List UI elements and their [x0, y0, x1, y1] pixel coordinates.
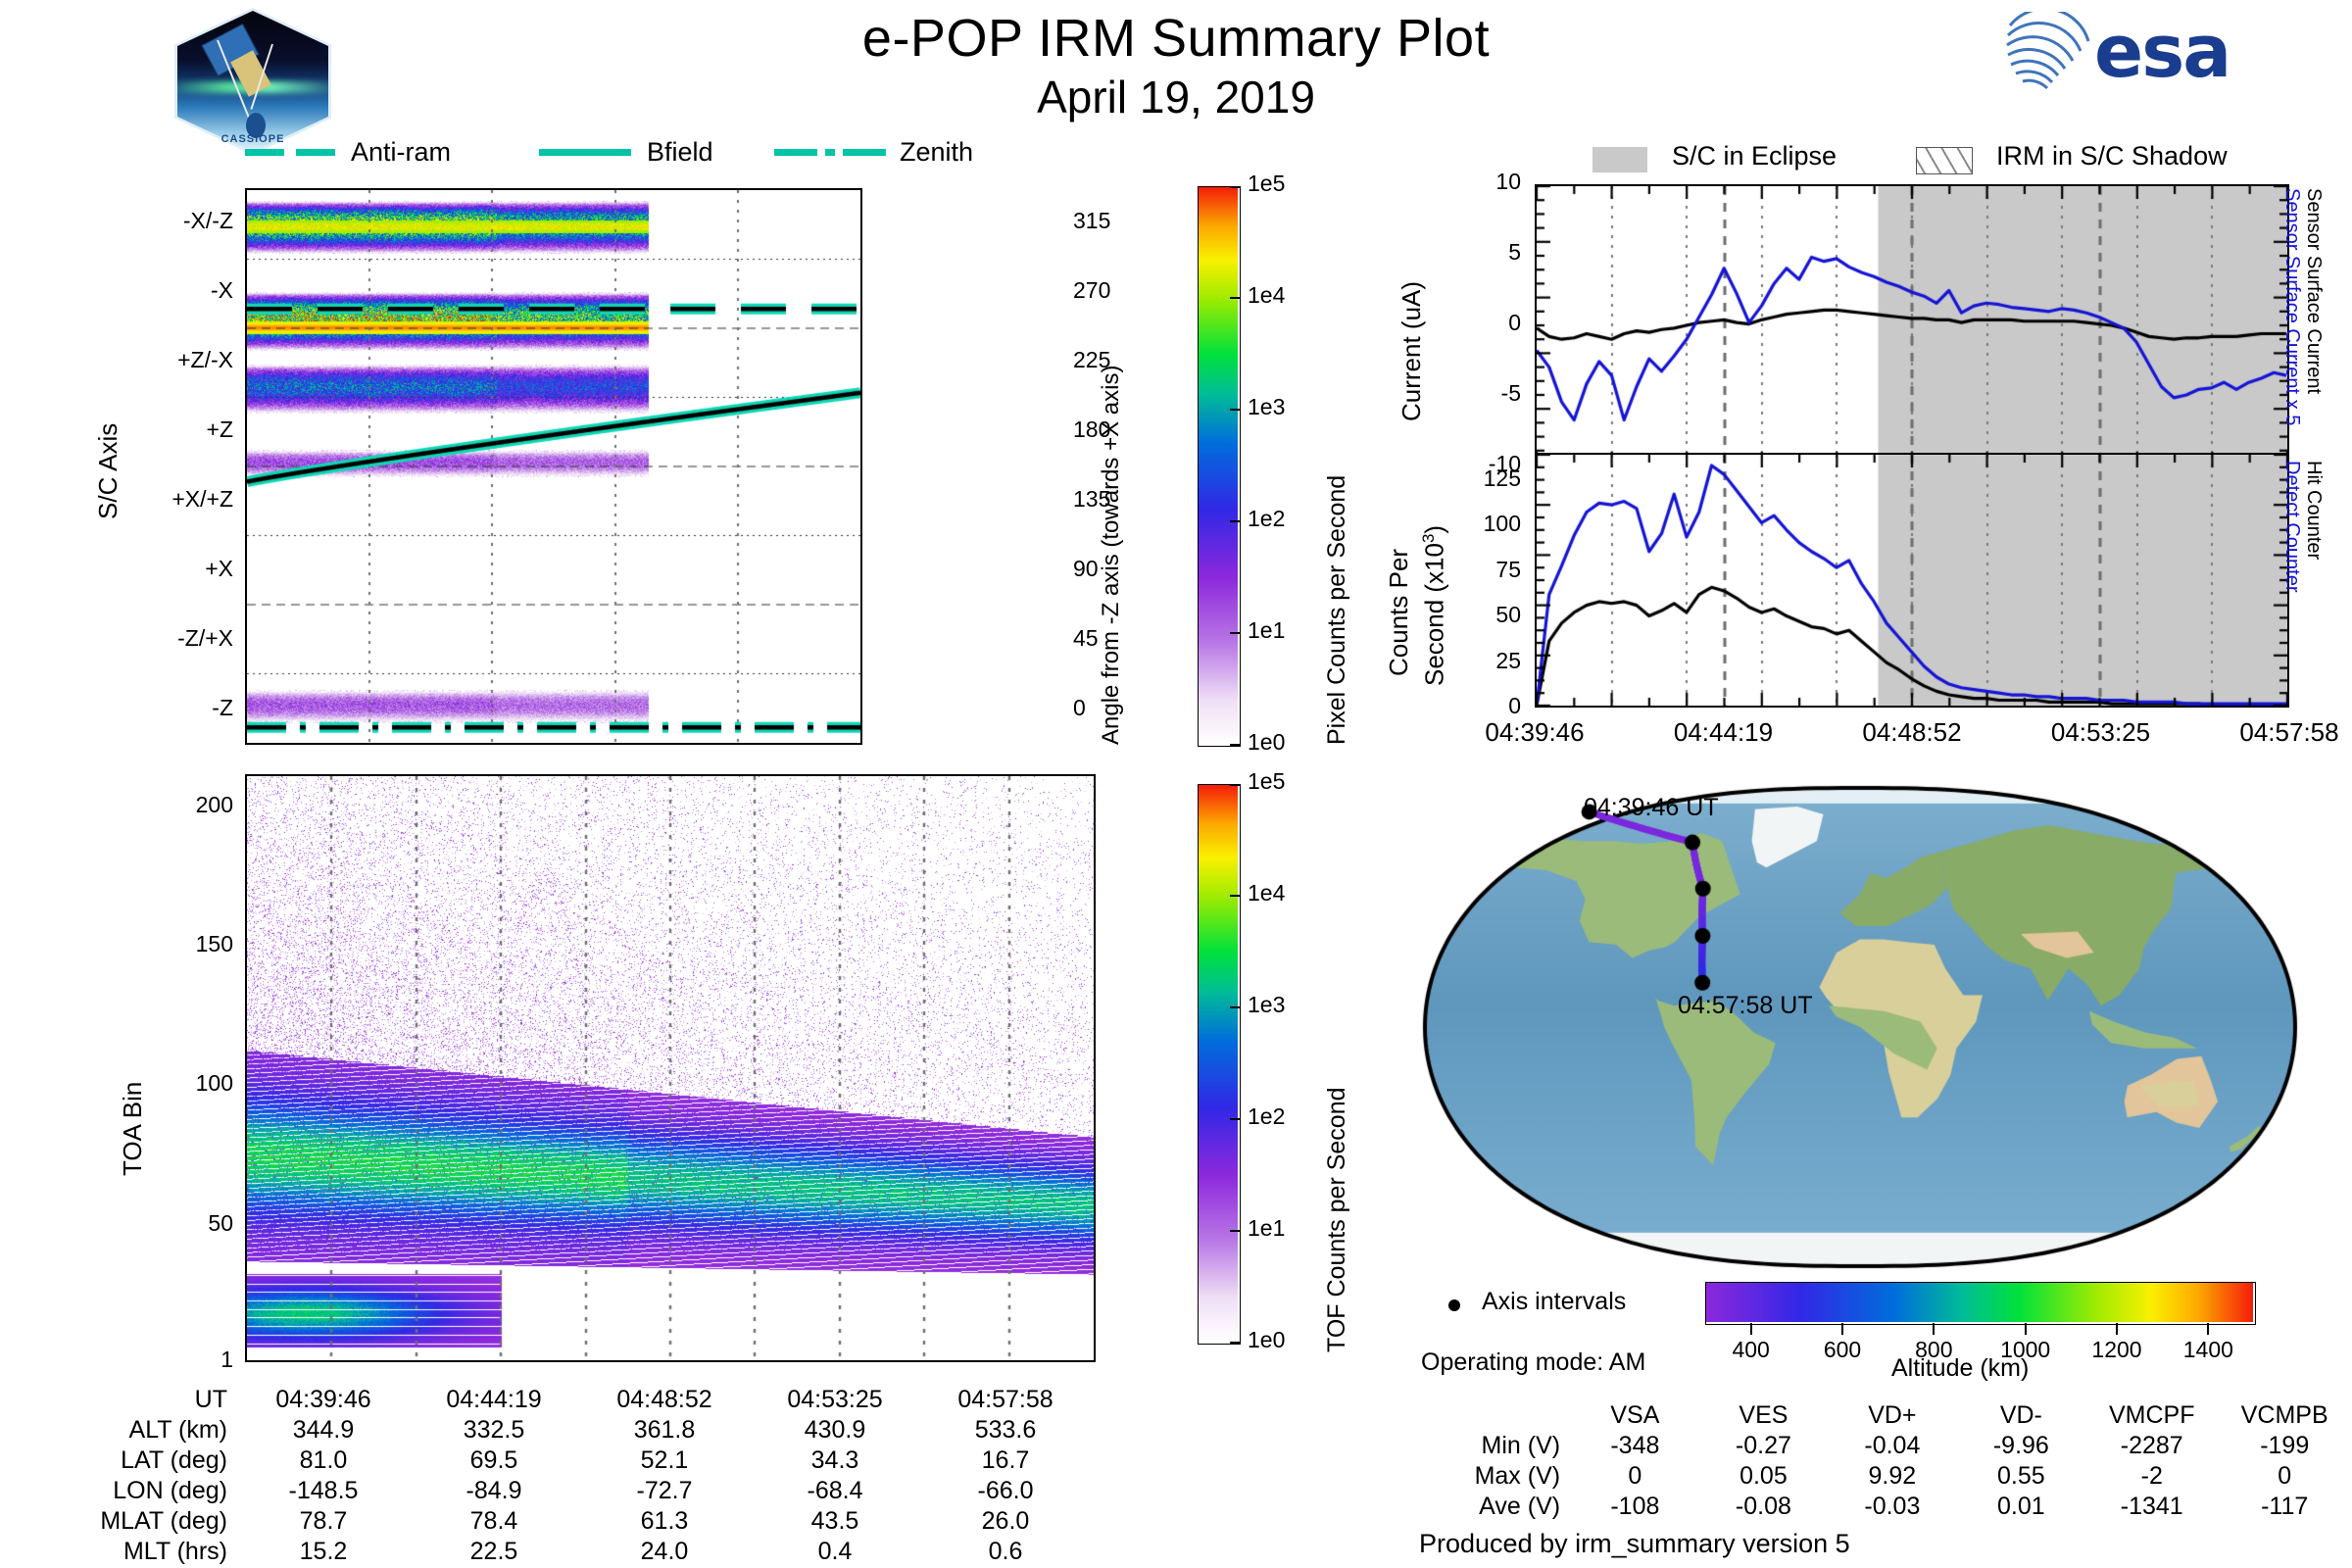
ephemeris-cell-mlt-0: 15.2: [239, 1538, 408, 1566]
altitude-cb-tick-4: [2116, 1323, 2118, 1335]
current-ytick-1: 5: [1423, 239, 1521, 266]
map-end-time-label: 04:57:58 UT: [1678, 992, 1813, 1020]
current-right-label-black: Sensor Surface Current: [2302, 188, 2325, 394]
sc-axis-right-tick-5: 90: [1073, 556, 1142, 582]
ephemeris-cell-mlt-1: 22.5: [410, 1538, 578, 1566]
ephemeris-row-label-lon: LON (deg): [31, 1477, 237, 1505]
ephemeris-cell-ut-0: 04:39:46: [239, 1386, 408, 1414]
sc-axis-right-tick-3: 180: [1073, 416, 1142, 443]
voltage-cell-0-vdp: -0.04: [1829, 1432, 1955, 1460]
current-ytick-2: 0: [1423, 310, 1521, 336]
legend-antiram-dash2: [296, 149, 335, 156]
voltage-cell-2-vdm: 0.01: [1958, 1493, 2084, 1521]
voltage-cell-2-vdp: -0.03: [1829, 1493, 1955, 1521]
sc-axis-right-tick-4: 135: [1073, 486, 1142, 513]
esa-wordmark: esa: [2094, 10, 2229, 94]
current-ytick-0: 10: [1423, 169, 1521, 195]
altitude-cb-tick-0: [1750, 1323, 1752, 1335]
voltage-cell-2-vcmpb: -117: [2219, 1493, 2350, 1521]
sc-axis-ytick-1: -X: [108, 277, 233, 304]
legend-zenith-dash2: [843, 149, 886, 156]
counts-panel: [1535, 453, 2289, 708]
altitude-cb-tick-3: [2025, 1323, 2027, 1335]
sc-axis-ytick-7: -Z: [108, 695, 233, 721]
ephemeris-row-label-mlat: MLAT (deg): [31, 1507, 237, 1536]
time-tick-2: 04:48:52: [1829, 717, 1995, 748]
ephemeris-cell-lat-2: 52.1: [580, 1446, 749, 1475]
voltage-cell-0-vcmpb: -199: [2219, 1432, 2350, 1460]
voltage-header-vdm: VD-: [1958, 1401, 2084, 1430]
ephemeris-cell-ut-2: 04:48:52: [580, 1386, 749, 1414]
voltage-row-0: Min (V)-348-0.27-0.04-9.96-2287-199: [1421, 1432, 2350, 1460]
voltage-row-label-2: Ave (V): [1421, 1493, 1570, 1521]
voltage-header-vcmpb: VCMPB: [2219, 1401, 2350, 1430]
voltage-cell-1-vdp: 9.92: [1829, 1462, 1955, 1491]
toa-ytick-3: 50: [127, 1210, 233, 1237]
pixel-counts-cb-tick-1: [1230, 297, 1240, 299]
ephemeris-row-label-lat: LAT (deg): [31, 1446, 237, 1475]
altitude-cb-label-1: 600: [1807, 1337, 1878, 1363]
counts-ytick-5: 0: [1423, 693, 1521, 719]
voltage-table: VSAVESVD+VD-VMCPFVCMPBMin (V)-348-0.27-0…: [1419, 1399, 2352, 1523]
voltage-cell-0-vmcpf: -2287: [2086, 1432, 2217, 1460]
ephemeris-cell-ut-4: 04:57:58: [921, 1386, 1090, 1414]
voltage-cell-0-vsa: -348: [1572, 1432, 1698, 1460]
ephemeris-cell-lon-4: -66.0: [921, 1477, 1090, 1505]
pixel-counts-cb-label-4: 1e1: [1248, 617, 1285, 644]
time-tick-0: 04:39:46: [1451, 717, 1618, 748]
voltage-header-blank: [1421, 1401, 1570, 1430]
voltage-cell-1-vcmpb: 0: [2219, 1462, 2350, 1491]
altitude-cb-label-4: 1200: [2082, 1337, 2152, 1363]
ephemeris-row-lon: LON (deg)-148.5-84.9-72.7-68.4-66.0: [31, 1477, 1090, 1505]
ephemeris-cell-alt-1: 332.5: [410, 1416, 578, 1445]
legend-label-bfield: Bfield: [647, 137, 713, 168]
sc-axis-ytick-3: +Z: [108, 416, 233, 443]
ephemeris-cell-alt-4: 533.6: [921, 1416, 1090, 1445]
counts-ytick-4: 25: [1423, 648, 1521, 674]
legend-label-zenith: Zenith: [900, 137, 973, 168]
voltage-header-vdp: VD+: [1829, 1401, 1955, 1430]
tof-counts-cb-label-0: 1e5: [1248, 768, 1285, 795]
voltage-header-row: VSAVESVD+VD-VMCPFVCMPB: [1421, 1401, 2350, 1430]
voltage-row-1: Max (V)00.059.920.55-20: [1421, 1462, 2350, 1491]
ephemeris-cell-lon-2: -72.7: [580, 1477, 749, 1505]
eclipse-swatch: [1592, 147, 1647, 172]
tof-counts-cb-label-2: 1e3: [1248, 992, 1285, 1018]
ephemeris-cell-lat-4: 16.7: [921, 1446, 1090, 1475]
pixel-counts-cb-tick-0: [1230, 186, 1240, 188]
voltage-cell-0-vdm: -9.96: [1958, 1432, 2084, 1460]
voltage-cell-1-ves: 0.05: [1700, 1462, 1827, 1491]
toa-bin-spectrogram-image: [247, 776, 1094, 1360]
sc-axis-right-tick-7: 0: [1073, 695, 1142, 721]
sc-axis-ytick-4: +X/+Z: [108, 486, 233, 513]
ephemeris-cell-mlat-3: 43.5: [751, 1507, 919, 1536]
ephemeris-cell-lon-0: -148.5: [239, 1477, 408, 1505]
altitude-cb-label-0: 400: [1716, 1337, 1787, 1363]
ephemeris-cell-mlt-2: 24.0: [580, 1538, 749, 1566]
altitude-cb-label-5: 1400: [2173, 1337, 2243, 1363]
altitude-cb-tick-1: [1841, 1323, 1843, 1335]
tof-counts-cb-label-5: 1e0: [1248, 1327, 1285, 1353]
tof-counts-cb-label-1: 1e4: [1248, 880, 1285, 906]
tof-counts-cb-tick-5: [1230, 1342, 1240, 1344]
counts-right-label-black: Hit Counter: [2302, 461, 2325, 560]
sc-axis-right-tick-0: 315: [1073, 208, 1142, 234]
voltage-row-2: Ave (V)-108-0.08-0.030.01-1341-117: [1421, 1493, 2350, 1521]
ephemeris-cell-lat-1: 69.5: [410, 1446, 578, 1475]
esa-logo: esa: [2004, 8, 2288, 98]
ephemeris-cell-lon-1: -84.9: [410, 1477, 578, 1505]
altitude-cb-tick-2: [1933, 1323, 1935, 1335]
tof-counts-cb-tick-0: [1230, 784, 1240, 786]
ephemeris-cell-mlt-4: 0.6: [921, 1538, 1090, 1566]
ephemeris-cell-lon-3: -68.4: [751, 1477, 919, 1505]
time-tick-3: 04:53:25: [2018, 717, 2184, 748]
ephemeris-row-lat: LAT (deg)81.069.552.134.316.7: [31, 1446, 1090, 1475]
cassiope-mission-patch-icon: CASSIOPE: [174, 8, 331, 155]
tof-counts-cb-tick-2: [1230, 1006, 1240, 1008]
pixel-counts-cb-label-2: 1e3: [1248, 394, 1285, 420]
ephemeris-cell-mlat-0: 78.7: [239, 1507, 408, 1536]
pixel-counts-colorbar-label: Pixel Counts per Second: [1323, 475, 1351, 745]
current-right-label-blue: Sensor Surface Current x 5: [2280, 188, 2303, 425]
tof-counts-cb-tick-1: [1230, 895, 1240, 897]
axis-intervals-legend-label: Axis intervals: [1482, 1288, 1626, 1316]
pixel-counts-cb-label-1: 1e4: [1248, 282, 1285, 309]
tof-counts-colorbar-label: TOF Counts per Second: [1323, 1087, 1351, 1352]
ephemeris-cell-lat-0: 81.0: [239, 1446, 408, 1475]
pixel-counts-cb-tick-2: [1230, 409, 1240, 411]
tof-counts-cb-label-4: 1e1: [1248, 1215, 1285, 1242]
voltage-cell-2-vsa: -108: [1572, 1493, 1698, 1521]
ephemeris-cell-lat-3: 34.3: [751, 1446, 919, 1475]
counts-plot-lines: [1537, 455, 2287, 706]
footer-produced-by: Produced by irm_summary version 5: [1419, 1529, 1850, 1559]
voltage-header-ves: VES: [1700, 1401, 1827, 1430]
current-panel: [1535, 184, 2289, 466]
toa-ytick-0: 200: [127, 792, 233, 818]
sc-axis-ytick-5: +X: [108, 556, 233, 582]
ephemeris-row-mlat: MLAT (deg)78.778.461.343.526.0: [31, 1507, 1090, 1536]
eclipse-legend-label: S/C in Eclipse: [1672, 141, 1837, 171]
ephemeris-cell-ut-1: 04:44:19: [410, 1386, 578, 1414]
ephemeris-row-label-ut: UT: [31, 1386, 237, 1414]
pixel-counts-cb-label-0: 1e5: [1248, 171, 1285, 197]
altitude-cb-label-3: 1000: [1990, 1337, 2061, 1363]
counts-ytick-3: 50: [1423, 602, 1521, 628]
ephemeris-cell-mlat-2: 61.3: [580, 1507, 749, 1536]
pixel-counts-cb-tick-3: [1230, 520, 1240, 522]
voltage-cell-1-vsa: 0: [1572, 1462, 1698, 1491]
legend-zenith-dot: [825, 149, 835, 156]
legend-antiram-dash1: [245, 149, 284, 156]
counts-ytick-1: 100: [1423, 511, 1521, 537]
counts-ytick-0: 125: [1423, 465, 1521, 492]
tof-counts-cb-tick-3: [1230, 1118, 1240, 1120]
counts-ytick-2: 75: [1423, 557, 1521, 583]
shadow-swatch-icon: [1916, 147, 1973, 174]
pixel-counts-cb-label-5: 1e0: [1248, 729, 1285, 756]
axis-interval-dot-icon: [1448, 1299, 1460, 1311]
voltage-cell-2-vmcpf: -1341: [2086, 1493, 2217, 1521]
shadow-legend-label: IRM in S/C Shadow: [1996, 141, 2228, 171]
legend-bfield-line: [539, 149, 631, 156]
ephemeris-cell-alt-0: 344.9: [239, 1416, 408, 1445]
toa-ytick-2: 100: [127, 1070, 233, 1097]
ephemeris-row-mlt: MLT (hrs)15.222.524.00.40.6: [31, 1538, 1090, 1566]
time-tick-1: 04:44:19: [1641, 717, 1807, 748]
ephemeris-row-alt: ALT (km)344.9332.5361.8430.9533.6: [31, 1416, 1090, 1445]
sc-axis-right-tick-1: 270: [1073, 277, 1142, 304]
page-subtitle: April 19, 2019: [0, 71, 2352, 123]
sc-axis-right-tick-6: 45: [1073, 625, 1142, 652]
toa-bin-spectrogram-panel: [245, 774, 1096, 1362]
voltage-header-vmcpf: VMCPF: [2086, 1401, 2217, 1430]
voltage-header-vsa: VSA: [1572, 1401, 1698, 1430]
pixel-counts-colorbar: [1198, 186, 1241, 747]
pixel-counts-cb-tick-4: [1230, 632, 1240, 634]
legend-zenith-dash: [774, 149, 817, 156]
ephemeris-table: UT04:39:4604:44:1904:48:5204:53:2504:57:…: [29, 1384, 1092, 1568]
ephemeris-cell-mlat-1: 78.4: [410, 1507, 578, 1536]
ephemeris-cell-ut-3: 04:53:25: [751, 1386, 919, 1414]
sc-axis-spectrogram-panel: [245, 188, 862, 745]
time-tick-4: 04:57:58: [2206, 717, 2352, 748]
current-ytick-3: -5: [1423, 380, 1521, 407]
tof-counts-cb-label-3: 1e2: [1248, 1103, 1285, 1130]
ephemeris-row-label-alt: ALT (km): [31, 1416, 237, 1445]
voltage-cell-1-vmcpf: -2: [2086, 1462, 2217, 1491]
map-start-time-label: 04:39:46 UT: [1584, 794, 1719, 822]
toa-ytick-4: 1: [127, 1347, 233, 1373]
sc-axis-spectrogram-image: [247, 190, 860, 743]
voltage-cell-1-vdm: 0.55: [1958, 1462, 2084, 1491]
counts-ylabel-line1: Counts Per: [1384, 549, 1414, 676]
ephemeris-cell-mlat-4: 26.0: [921, 1507, 1090, 1536]
voltage-row-label-0: Min (V): [1421, 1432, 1570, 1460]
altitude-cb-label-2: 800: [1898, 1337, 1969, 1363]
tof-counts-cb-tick-4: [1230, 1230, 1240, 1232]
ground-track-map: 04:39:46 UT 04:57:58 UT: [1419, 782, 2301, 1272]
sc-axis-ytick-2: +Z/-X: [108, 347, 233, 373]
ephemeris-cell-mlt-3: 0.4: [751, 1538, 919, 1566]
current-plot-lines: [1537, 186, 2287, 465]
operating-mode-label: Operating mode: AM: [1421, 1348, 1645, 1377]
counts-right-label-blue: Detect Counter: [2280, 461, 2303, 593]
voltage-row-label-1: Max (V): [1421, 1462, 1570, 1491]
sc-axis-ytick-6: -Z/+X: [108, 625, 233, 652]
ephemeris-cell-alt-2: 361.8: [580, 1416, 749, 1445]
altitude-cb-tick-5: [2207, 1323, 2209, 1335]
voltage-cell-2-ves: -0.08: [1700, 1493, 1827, 1521]
ephemeris-row-label-mlt: MLT (hrs): [31, 1538, 237, 1566]
pixel-counts-cb-tick-5: [1230, 744, 1240, 746]
ephemeris-cell-alt-3: 430.9: [751, 1416, 919, 1445]
pixel-counts-cb-label-3: 1e2: [1248, 506, 1285, 532]
legend-label-antiram: Anti-ram: [351, 137, 451, 168]
esa-swirl-icon: [2004, 12, 2094, 94]
world-map-image: [1419, 782, 2301, 1272]
toa-ytick-1: 150: [127, 931, 233, 957]
sc-axis-legend: Anti-ram Bfield Zenith: [245, 137, 990, 171]
ephemeris-row-ut: UT04:39:4604:44:1904:48:5204:53:2504:57:…: [31, 1386, 1090, 1414]
sc-axis-right-tick-2: 225: [1073, 347, 1142, 373]
page-title: e-POP IRM Summary Plot: [0, 8, 2352, 69]
altitude-colorbar: [1705, 1282, 2256, 1325]
tof-counts-colorbar: [1198, 784, 1241, 1345]
sc-axis-ytick-0: -X/-Z: [108, 208, 233, 234]
voltage-cell-0-ves: -0.27: [1700, 1432, 1827, 1460]
